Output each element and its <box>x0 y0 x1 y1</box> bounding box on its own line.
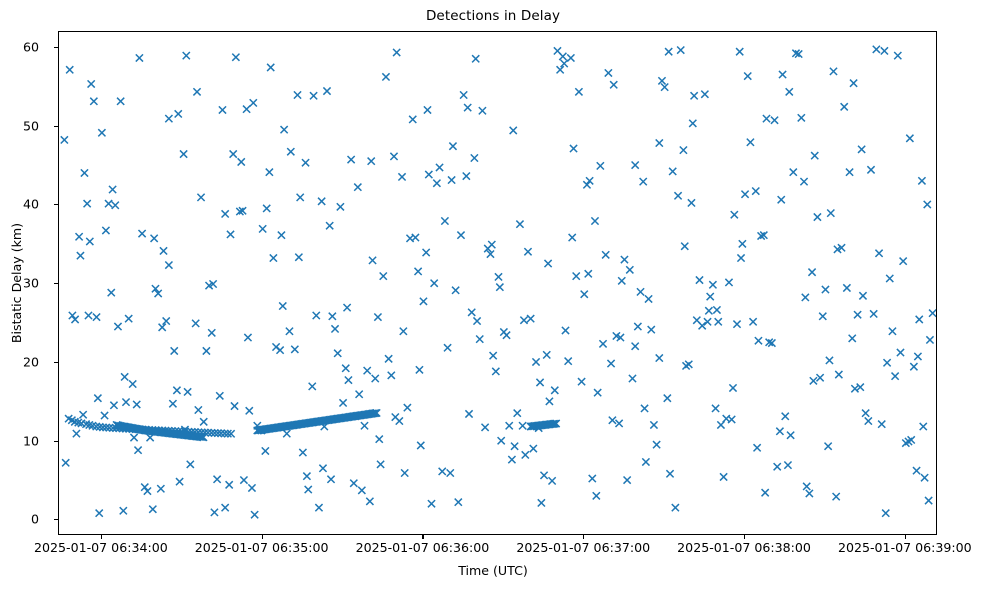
x-tick-label: 2025-01-07 06:35:00 <box>195 540 329 555</box>
x-tick-mark <box>905 535 906 539</box>
x-tick-mark <box>744 535 745 539</box>
y-tick-label: 50 <box>0 118 39 133</box>
y-tick-label: 10 <box>0 433 39 448</box>
scatter-series <box>59 32 937 535</box>
x-tick-label: 2025-01-07 06:34:00 <box>34 540 168 555</box>
y-tick-label: 60 <box>0 39 39 54</box>
page-title: Detections in Delay <box>0 8 986 24</box>
x-tick-mark <box>101 535 102 539</box>
x-tick-mark <box>583 535 584 539</box>
plot-area <box>58 31 937 535</box>
y-tick-label: 40 <box>0 197 39 212</box>
x-tick-label: 2025-01-07 06:36:00 <box>356 540 490 555</box>
x-axis-label: Time (UTC) <box>0 563 986 578</box>
x-tick-label: 2025-01-07 06:38:00 <box>677 540 811 555</box>
x-tick-mark <box>262 535 263 539</box>
y-tick-label: 20 <box>0 354 39 369</box>
x-tick-mark <box>422 535 423 539</box>
matplotlib-figure: Detections in Delay Bistatic Delay (km) … <box>0 0 986 590</box>
x-tick-label: 2025-01-07 06:39:00 <box>838 540 972 555</box>
y-tick-label: 0 <box>0 512 39 527</box>
x-tick-label: 2025-01-07 06:37:00 <box>516 540 650 555</box>
y-tick-label: 30 <box>0 276 39 291</box>
